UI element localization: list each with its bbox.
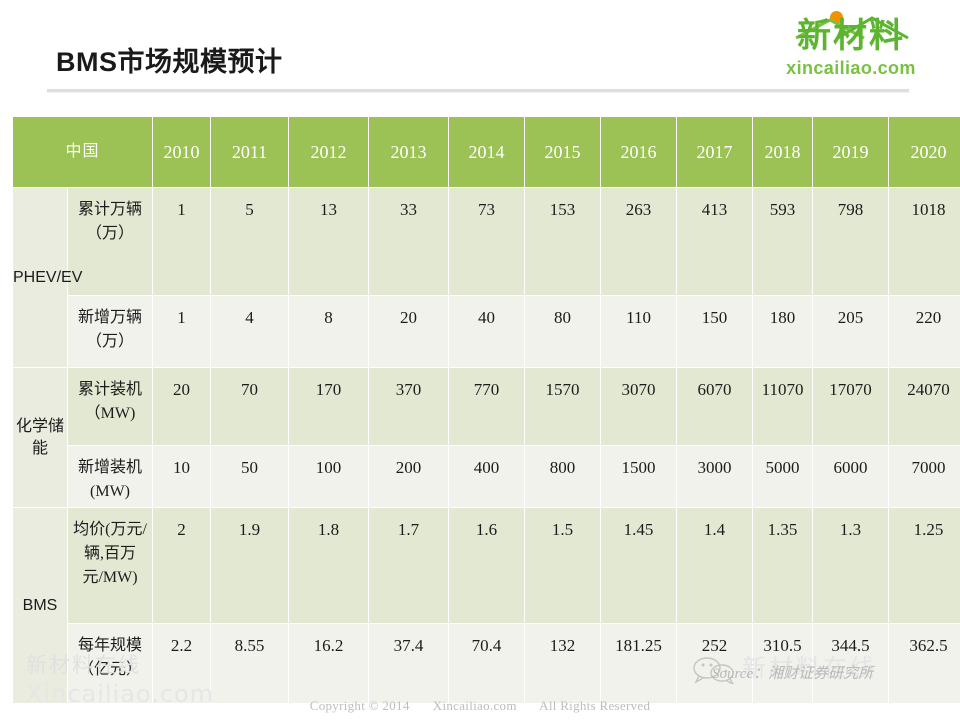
cell-value: 20 bbox=[153, 368, 211, 446]
cell-value: 1.5 bbox=[525, 508, 601, 624]
logo-url-text: xincailiao.com bbox=[768, 58, 934, 79]
cell-value: 1570 bbox=[525, 368, 601, 446]
cell-value: 11070 bbox=[753, 368, 813, 446]
cell-value: 1.35 bbox=[753, 508, 813, 624]
cell-value: 362.5 bbox=[889, 624, 960, 704]
header-year-2019: 2019 bbox=[813, 117, 889, 188]
cell-value: 1500 bbox=[601, 446, 677, 508]
header-year-2014: 2014 bbox=[449, 117, 525, 188]
cell-value: 263 bbox=[601, 188, 677, 296]
table-row: 化学储能 累计装机（MW) 20 70 170 370 770 1570 307… bbox=[13, 368, 960, 446]
cell-value: 344.5 bbox=[813, 624, 889, 704]
cell-value: 8 bbox=[289, 296, 369, 368]
copyright-site: Xincailiao.com bbox=[433, 698, 517, 713]
cell-value: 70.4 bbox=[449, 624, 525, 704]
header-year-2015: 2015 bbox=[525, 117, 601, 188]
header-year-2012: 2012 bbox=[289, 117, 369, 188]
cell-value: 1.25 bbox=[889, 508, 960, 624]
cell-value: 4 bbox=[211, 296, 289, 368]
cell-value: 1 bbox=[153, 296, 211, 368]
row-group-bms: BMS bbox=[13, 508, 68, 704]
cell-value: 205 bbox=[813, 296, 889, 368]
cell-value: 400 bbox=[449, 446, 525, 508]
cell-value: 37.4 bbox=[369, 624, 449, 704]
header-year-2010: 2010 bbox=[153, 117, 211, 188]
cell-value: 5 bbox=[211, 188, 289, 296]
cell-value: 20 bbox=[369, 296, 449, 368]
cell-value: 252 bbox=[677, 624, 753, 704]
cell-value: 40 bbox=[449, 296, 525, 368]
bms-market-size-table: 中国 2010 2011 2012 2013 2014 2015 2016 20… bbox=[12, 116, 960, 704]
cell-value: 1018 bbox=[889, 188, 960, 296]
data-table-container: 中国 2010 2011 2012 2013 2014 2015 2016 20… bbox=[12, 116, 948, 704]
slide-header: BMS市场规模预计 新材料 xincailiao.com bbox=[0, 0, 960, 100]
cell-value: 10 bbox=[153, 446, 211, 508]
cell-value: 1.45 bbox=[601, 508, 677, 624]
copyright-bar: Copyright © 2014 Xincailiao.com All Righ… bbox=[0, 698, 960, 714]
table-body: PHEV/EV 累计万辆（万） 1 5 13 33 73 153 263 413… bbox=[13, 188, 960, 704]
logo-mark: 新材料 bbox=[768, 8, 934, 56]
table-row: 新增万辆（万） 1 4 8 20 40 80 110 150 180 205 2… bbox=[13, 296, 960, 368]
row-group-phev-ev: PHEV/EV bbox=[13, 188, 68, 368]
cell-value: 1.4 bbox=[677, 508, 753, 624]
cell-value: 132 bbox=[525, 624, 601, 704]
logo-name-text: 新材料 bbox=[768, 16, 934, 56]
cell-value: 7000 bbox=[889, 446, 960, 508]
cell-value: 33 bbox=[369, 188, 449, 296]
row-metric-label: 均价(万元/辆,百万元/MW) bbox=[68, 508, 153, 624]
cell-value: 3000 bbox=[677, 446, 753, 508]
table-row: PHEV/EV 累计万辆（万） 1 5 13 33 73 153 263 413… bbox=[13, 188, 960, 296]
cell-value: 180 bbox=[753, 296, 813, 368]
cell-value: 370 bbox=[369, 368, 449, 446]
header-year-2016: 2016 bbox=[601, 117, 677, 188]
header-year-2018: 2018 bbox=[753, 117, 813, 188]
row-metric-label: 每年规模（亿元） bbox=[68, 624, 153, 704]
site-logo: 新材料 xincailiao.com bbox=[768, 8, 934, 86]
cell-value: 100 bbox=[289, 446, 369, 508]
cell-value: 150 bbox=[677, 296, 753, 368]
cell-value: 153 bbox=[525, 188, 601, 296]
cell-value: 1.8 bbox=[289, 508, 369, 624]
copyright-rights: All Rights Reserved bbox=[539, 698, 650, 713]
cell-value: 1.6 bbox=[449, 508, 525, 624]
cell-value: 1.9 bbox=[211, 508, 289, 624]
cell-value: 310.5 bbox=[753, 624, 813, 704]
cell-value: 24070 bbox=[889, 368, 960, 446]
table-row: 每年规模（亿元） 2.2 8.55 16.2 37.4 70.4 132 181… bbox=[13, 624, 960, 704]
header-year-2020: 2020 bbox=[889, 117, 960, 188]
table-header: 中国 2010 2011 2012 2013 2014 2015 2016 20… bbox=[13, 117, 960, 188]
title-divider bbox=[47, 89, 909, 93]
cell-value: 413 bbox=[677, 188, 753, 296]
row-metric-label: 累计装机（MW) bbox=[68, 368, 153, 446]
cell-value: 770 bbox=[449, 368, 525, 446]
cell-value: 70 bbox=[211, 368, 289, 446]
table-header-row: 中国 2010 2011 2012 2013 2014 2015 2016 20… bbox=[13, 117, 960, 188]
table-row: 新增装机(MW) 10 50 100 200 400 800 1500 3000… bbox=[13, 446, 960, 508]
cell-value: 73 bbox=[449, 188, 525, 296]
cell-value: 2.2 bbox=[153, 624, 211, 704]
header-region: 中国 bbox=[13, 117, 153, 188]
cell-value: 8.55 bbox=[211, 624, 289, 704]
header-year-2013: 2013 bbox=[369, 117, 449, 188]
cell-value: 80 bbox=[525, 296, 601, 368]
header-year-2011: 2011 bbox=[211, 117, 289, 188]
cell-value: 170 bbox=[289, 368, 369, 446]
row-metric-label: 新增万辆（万） bbox=[68, 296, 153, 368]
cell-value: 13 bbox=[289, 188, 369, 296]
cell-value: 1.7 bbox=[369, 508, 449, 624]
cell-value: 2 bbox=[153, 508, 211, 624]
cell-value: 6070 bbox=[677, 368, 753, 446]
cell-value: 5000 bbox=[753, 446, 813, 508]
cell-value: 593 bbox=[753, 188, 813, 296]
copyright-text: Copyright © 2014 bbox=[310, 698, 410, 713]
cell-value: 110 bbox=[601, 296, 677, 368]
header-year-2017: 2017 bbox=[677, 117, 753, 188]
cell-value: 181.25 bbox=[601, 624, 677, 704]
cell-value: 3070 bbox=[601, 368, 677, 446]
cell-value: 17070 bbox=[813, 368, 889, 446]
table-row: BMS 均价(万元/辆,百万元/MW) 2 1.9 1.8 1.7 1.6 1.… bbox=[13, 508, 960, 624]
cell-value: 50 bbox=[211, 446, 289, 508]
cell-value: 1.3 bbox=[813, 508, 889, 624]
cell-value: 800 bbox=[525, 446, 601, 508]
row-group-chemical-storage: 化学储能 bbox=[13, 368, 68, 508]
cell-value: 1 bbox=[153, 188, 211, 296]
cell-value: 16.2 bbox=[289, 624, 369, 704]
slide-canvas: BMS市场规模预计 新材料 xincailiao.com bbox=[0, 0, 960, 720]
cell-value: 6000 bbox=[813, 446, 889, 508]
cell-value: 220 bbox=[889, 296, 960, 368]
page-title: BMS市场规模预计 bbox=[56, 40, 283, 79]
cell-value: 798 bbox=[813, 188, 889, 296]
cell-value: 200 bbox=[369, 446, 449, 508]
row-metric-label: 新增装机(MW) bbox=[68, 446, 153, 508]
